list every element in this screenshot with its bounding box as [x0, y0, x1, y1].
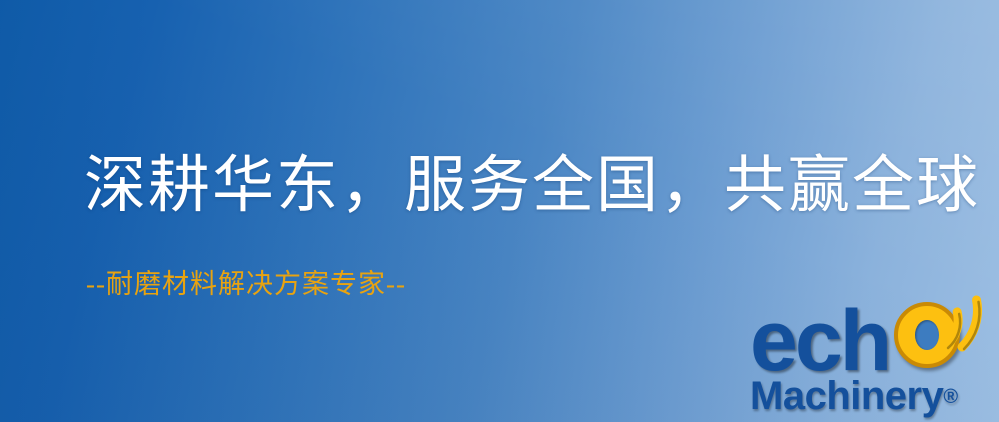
- banner-subheadline: --耐磨材料解决方案专家--: [86, 268, 406, 300]
- company-logo[interactable]: ech Machinery®: [748, 296, 999, 422]
- signal-waves-icon: [934, 290, 999, 352]
- logo-wordmark: ech: [748, 296, 999, 380]
- logo-brand-text: Machinery: [750, 374, 943, 418]
- hero-banner: 深耕华东，服务全国，共赢全球 --耐磨材料解决方案专家-- ech Machin…: [0, 0, 999, 422]
- logo-brand-line: Machinery®: [750, 374, 958, 419]
- registered-trademark-icon: ®: [943, 386, 958, 408]
- banner-headline: 深耕华东，服务全国，共赢全球: [84, 150, 980, 223]
